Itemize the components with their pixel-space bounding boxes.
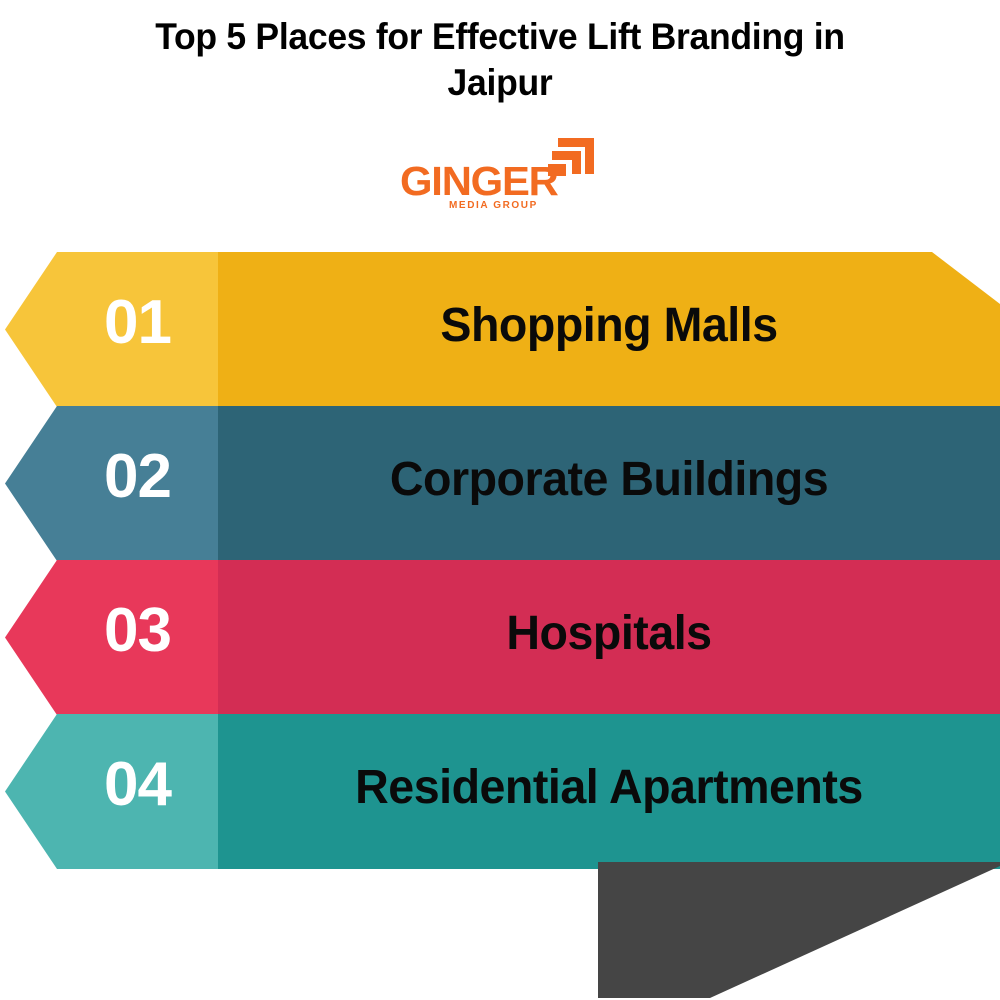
list-item-label: Shopping Malls xyxy=(230,300,989,352)
list-item[interactable]: 01 Shopping Malls xyxy=(0,252,1000,407)
ranked-list: 01 Shopping Malls 02 Corporate Buildings… xyxy=(0,0,1000,1000)
list-item-label: Residential Apartments xyxy=(230,762,989,814)
list-item-number: 02 xyxy=(57,446,218,508)
list-item[interactable]: 04 Residential Apartments xyxy=(0,714,1000,869)
list-item-label: Corporate Buildings xyxy=(230,454,989,506)
list-item[interactable]: 03 Hospitals xyxy=(0,560,1000,715)
list-item[interactable]: 02 Corporate Buildings xyxy=(0,406,1000,561)
list-item-label: Hospitals xyxy=(230,608,989,660)
list-item-number: 04 xyxy=(57,754,218,816)
list-item-number: 01 xyxy=(57,292,218,354)
list-item-number: 03 xyxy=(57,600,218,662)
